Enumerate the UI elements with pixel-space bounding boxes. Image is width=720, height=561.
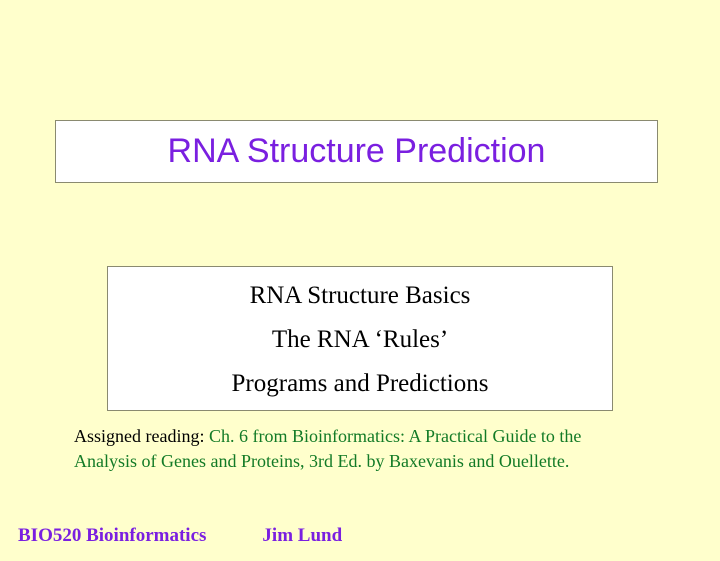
presentation-slide: RNA Structure Prediction RNA Structure B… (0, 0, 720, 561)
assigned-reading-label: Assigned reading: (74, 426, 209, 446)
slide-footer: BIO520 BioinformaticsJim Lund (18, 524, 708, 548)
title-box: RNA Structure Prediction (55, 120, 658, 183)
subtitle-line-1: RNA Structure Basics (250, 274, 471, 318)
subtitle-box: RNA Structure Basics The RNA ‘Rules’ Pro… (107, 266, 613, 411)
assigned-reading-block: Assigned reading: Ch. 6 from Bioinformat… (74, 424, 614, 474)
page-title: RNA Structure Prediction (168, 134, 546, 170)
footer-course-name: BIO520 Bioinformatics (18, 524, 206, 548)
footer-author-name: Jim Lund (262, 524, 342, 548)
subtitle-line-3: Programs and Predictions (232, 362, 489, 406)
subtitle-line-2: The RNA ‘Rules’ (272, 318, 448, 362)
